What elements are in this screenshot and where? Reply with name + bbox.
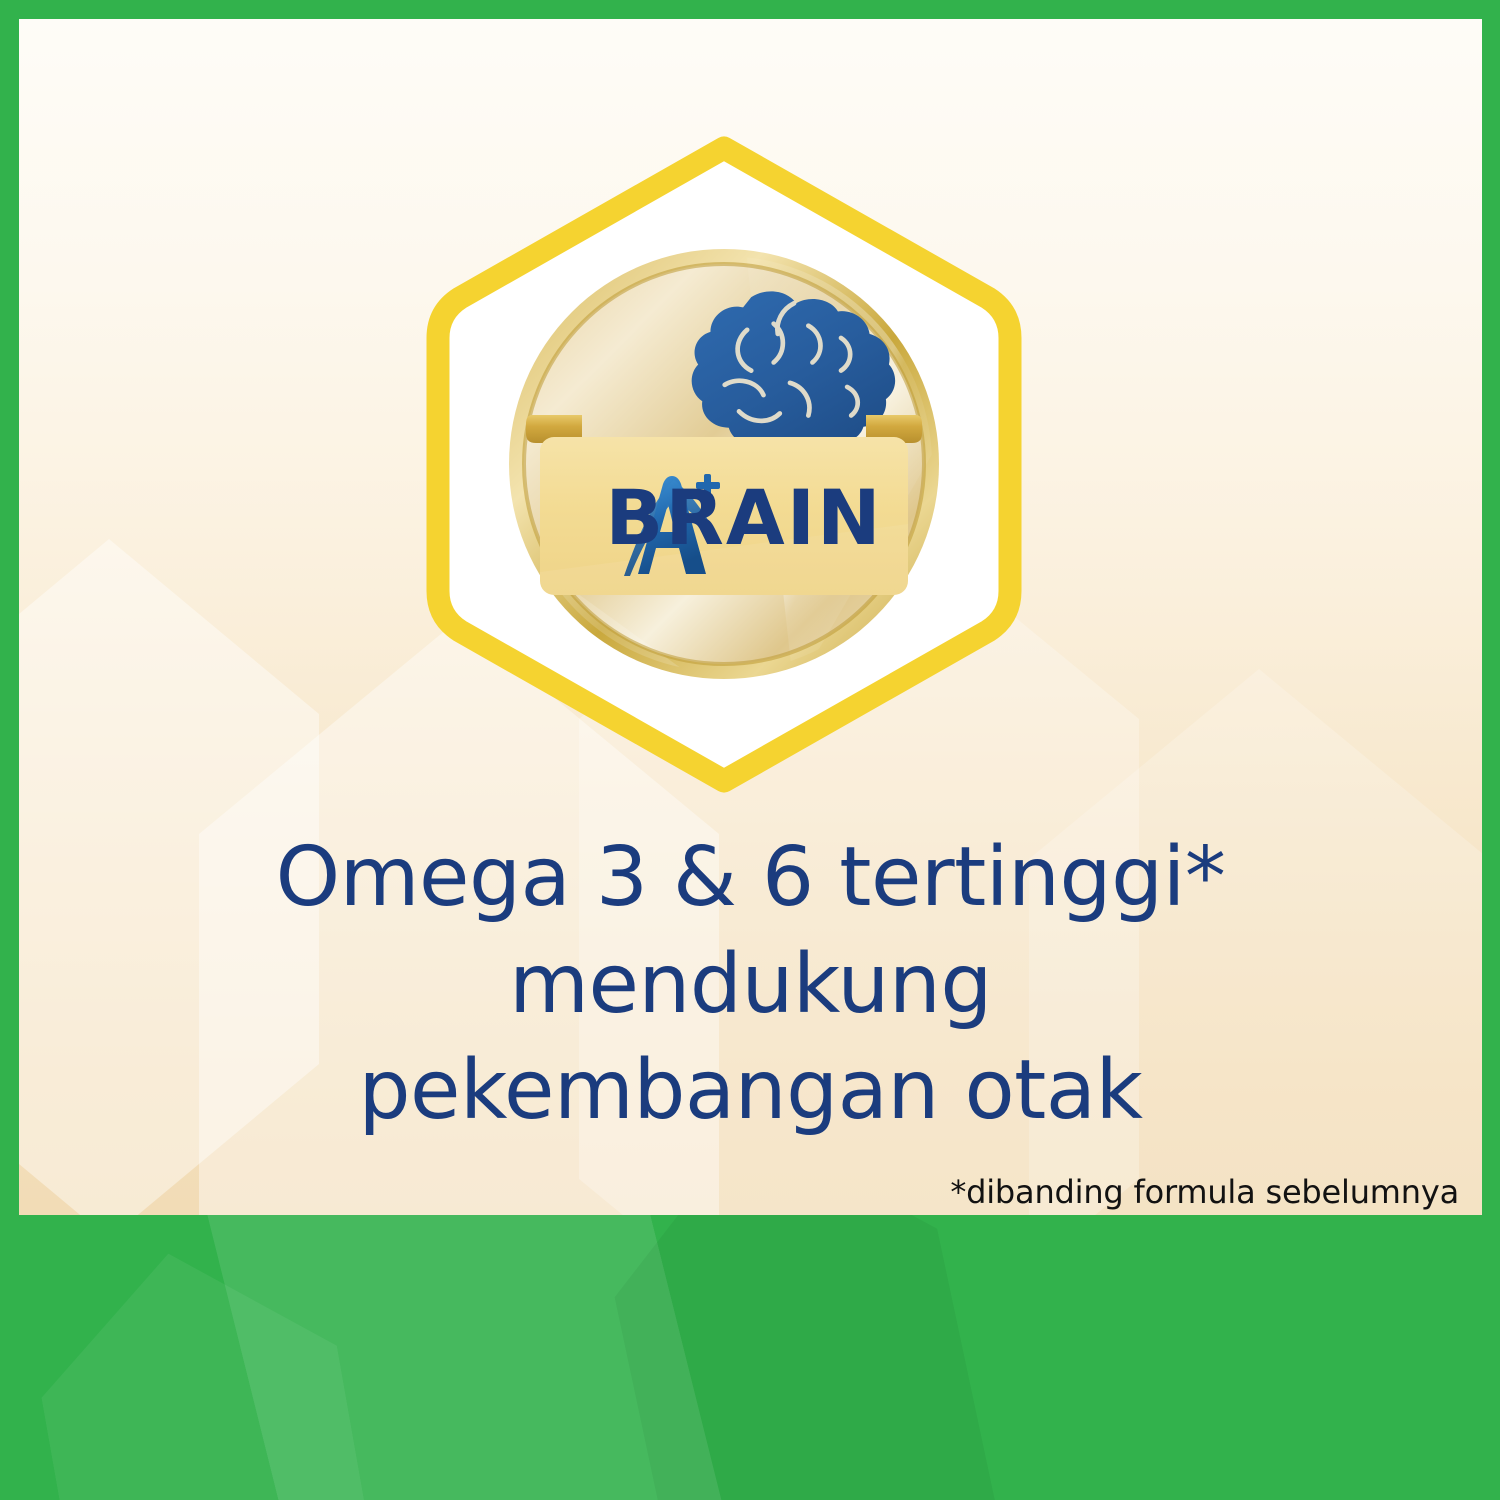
- green-hexagon-motif: [21, 1228, 400, 1500]
- headline-line-2: mendukung: [19, 932, 1482, 1039]
- poster-canvas: BRAIN Omega 3 & 6 tertinggi* mendukung p…: [0, 0, 1500, 1500]
- a-plus-brain-badge: BRAIN: [414, 132, 1034, 797]
- headline-line-1: Omega 3 & 6 tertinggi*: [19, 825, 1482, 932]
- page-title: Omega 3 & 6 tertinggi* mendukung pekemba…: [19, 825, 1482, 1145]
- badge-wordmark: BRAIN: [605, 473, 882, 562]
- footnote-disclaimer: *dibanding formula sebelumnya: [950, 1173, 1459, 1211]
- content-panel: BRAIN Omega 3 & 6 tertinggi* mendukung p…: [19, 19, 1482, 1215]
- headline-line-3: pekembangan otak: [19, 1038, 1482, 1145]
